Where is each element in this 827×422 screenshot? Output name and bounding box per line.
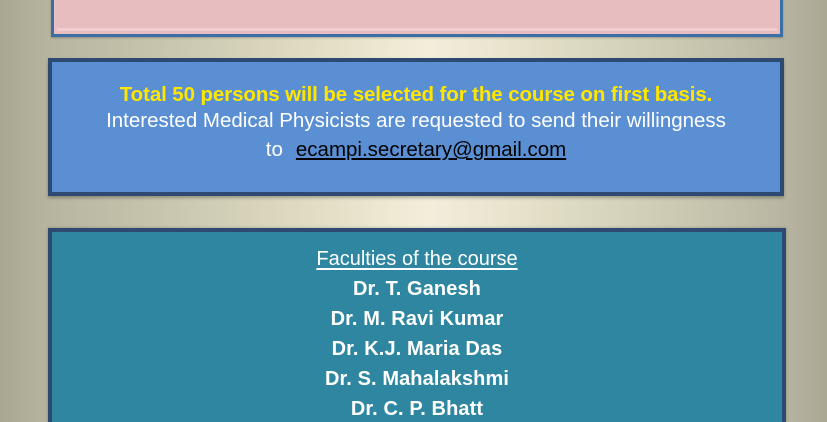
faculty-list-card: Faculties of the course Dr. T. Ganesh Dr… xyxy=(48,228,786,422)
faculty-name-item: Dr. S. Mahalakshmi xyxy=(325,364,509,394)
registration-info-card: Total 50 persons will be selected for th… xyxy=(48,58,784,196)
secretary-email-link[interactable]: ecampi.secretary@gmail.com xyxy=(296,138,566,161)
faculty-list-heading: Faculties of the course xyxy=(316,244,517,274)
pink-card-inner-highlight xyxy=(57,28,777,31)
willingness-instruction-line: Interested Medical Physicists are reques… xyxy=(106,107,726,136)
pink-info-card xyxy=(51,0,783,37)
presentation-slide: Total 50 persons will be selected for th… xyxy=(0,0,827,422)
to-label: to xyxy=(266,138,283,161)
faculty-name-item: Dr. T. Ganesh xyxy=(353,274,481,304)
faculty-name-item: Dr. M. Ravi Kumar xyxy=(331,304,504,334)
selection-heading: Total 50 persons will be selected for th… xyxy=(120,83,712,107)
faculty-name-item: Dr. K.J. Maria Das xyxy=(332,334,503,364)
faculty-name-item: Dr. C. P. Bhatt xyxy=(351,394,483,422)
email-instruction-line: toecampi.secretary@gmail.com xyxy=(266,136,566,165)
